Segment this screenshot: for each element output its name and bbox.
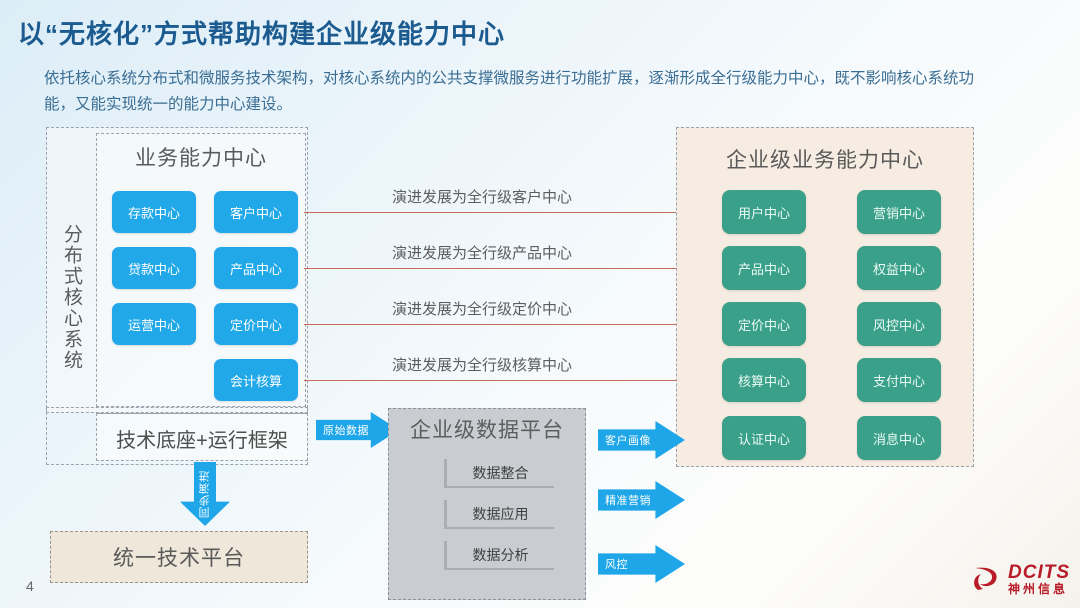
green-card-authentication[interactable]: 认证中心 xyxy=(722,416,806,460)
data-platform-title: 企业级数据平台 xyxy=(388,414,586,444)
evolution-line-customer xyxy=(304,212,718,213)
blue-card-deposit[interactable]: 存款中心 xyxy=(112,191,196,233)
data-platform-item-analysis[interactable]: 数据分析 xyxy=(444,541,554,570)
output-arrow-risk-control-label: 风控 xyxy=(605,556,628,572)
blue-card-operation[interactable]: 运营中心 xyxy=(112,303,196,345)
blue-card-customer[interactable]: 客户中心 xyxy=(214,191,298,233)
output-arrow-precision-marketing-label: 精准营销 xyxy=(605,492,651,508)
page-title: 以“无核化”方式帮助构建企业级能力中心 xyxy=(18,14,505,51)
core-system-vertical-label: 分布式核心系统 xyxy=(50,188,92,406)
blue-card-pricing[interactable]: 定价中心 xyxy=(214,303,298,345)
green-card-riskcontrol[interactable]: 风控中心 xyxy=(857,302,941,346)
page-subtitle: 依托核心系统分布式和微服务技术架构，对核心系统内的公共支撑微服务进行功能扩展，逐… xyxy=(44,66,984,118)
green-card-message[interactable]: 消息中心 xyxy=(857,416,941,460)
output-arrow-customer-profile: 客户画像 xyxy=(598,421,685,459)
enterprise-capability-title: 企业级业务能力中心 xyxy=(676,144,974,174)
logo-name: DCITS xyxy=(1008,563,1070,583)
evolution-line-accounting xyxy=(304,380,718,381)
sync-evolution-arrow: 同步演进 xyxy=(180,462,230,526)
green-card-payment[interactable]: 支付中心 xyxy=(857,358,941,402)
unified-platform-label: 统一技术平台 xyxy=(50,531,308,583)
logo-subname: 神州信息 xyxy=(1008,583,1070,596)
page-number: 4 xyxy=(26,578,34,594)
company-logo: DCITS 神州信息 xyxy=(969,562,1070,596)
evolution-line-pricing xyxy=(304,324,718,325)
green-card-user[interactable]: 用户中心 xyxy=(722,190,806,234)
evolution-label-pricing: 演进发展为全行级定价中心 xyxy=(392,298,572,319)
business-capability-title: 业务能力中心 xyxy=(96,142,306,172)
green-card-accounting[interactable]: 核算中心 xyxy=(722,358,806,402)
output-arrow-precision-marketing: 精准营销 xyxy=(598,481,685,519)
blue-card-accounting[interactable]: 会计核算 xyxy=(214,359,298,401)
output-arrow-customer-profile-label: 客户画像 xyxy=(605,432,651,448)
green-card-marketing[interactable]: 营销中心 xyxy=(857,190,941,234)
green-card-pricing[interactable]: 定价中心 xyxy=(722,302,806,346)
evolution-label-product: 演进发展为全行级产品中心 xyxy=(392,242,572,263)
evolution-label-customer: 演进发展为全行级客户中心 xyxy=(392,186,572,207)
green-card-product[interactable]: 产品中心 xyxy=(722,246,806,290)
evolution-label-accounting: 演进发展为全行级核算中心 xyxy=(392,354,572,375)
data-platform-item-integration[interactable]: 数据整合 xyxy=(444,459,554,488)
slide-root: 以“无核化”方式帮助构建企业级能力中心 依托核心系统分布式和微服务技术架构，对核… xyxy=(0,0,1080,608)
blue-card-product[interactable]: 产品中心 xyxy=(214,247,298,289)
logo-text-block: DCITS 神州信息 xyxy=(1008,563,1070,596)
dcits-mark-icon xyxy=(969,562,1003,596)
output-arrow-risk-control: 风控 xyxy=(598,545,685,583)
green-card-rights[interactable]: 权益中心 xyxy=(857,246,941,290)
tech-base-label: 技术底座+运行框架 xyxy=(96,418,308,458)
blue-card-loan[interactable]: 贷款中心 xyxy=(112,247,196,289)
sync-evolution-label: 同步演进 xyxy=(197,470,213,518)
raw-data-arrow: 原始数据 xyxy=(316,412,399,448)
raw-data-label: 原始数据 xyxy=(323,422,369,438)
evolution-line-product xyxy=(304,268,718,269)
data-platform-item-application[interactable]: 数据应用 xyxy=(444,500,554,529)
